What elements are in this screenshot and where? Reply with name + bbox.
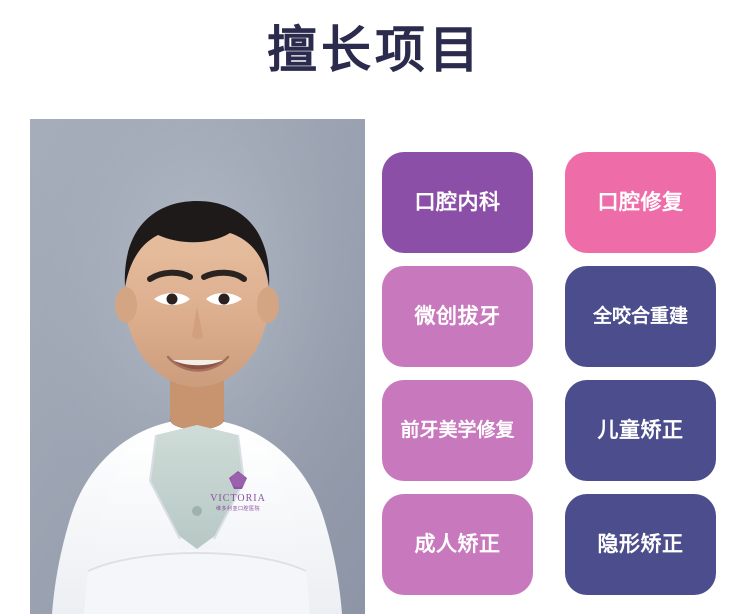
skill-button-7[interactable]: 隐形矫正 xyxy=(565,494,716,595)
page-root: 擅长项目 xyxy=(0,0,750,614)
skill-button-5[interactable]: 儿童矫正 xyxy=(565,380,716,481)
page-title: 擅长项目 xyxy=(267,25,483,75)
skills-grid: 口腔内科 口腔修复 微创拔牙 全咬合重建 前牙美学修复 儿童矫正 成人矫正 隐形… xyxy=(382,152,716,595)
skill-button-0[interactable]: 口腔内科 xyxy=(382,152,533,253)
skill-button-3[interactable]: 全咬合重建 xyxy=(565,266,716,367)
skill-label: 全咬合重建 xyxy=(593,307,688,326)
skill-label: 隐形矫正 xyxy=(598,534,684,555)
skill-label: 儿童矫正 xyxy=(598,420,684,441)
skill-label: 微创拔牙 xyxy=(415,306,501,327)
skill-button-4[interactable]: 前牙美学修复 xyxy=(382,380,533,481)
skill-label: 成人矫正 xyxy=(415,534,501,555)
skill-button-2[interactable]: 微创拔牙 xyxy=(382,266,533,367)
skill-label: 口腔内科 xyxy=(415,192,501,213)
skill-button-6[interactable]: 成人矫正 xyxy=(382,494,533,595)
skill-label: 口腔修复 xyxy=(598,192,684,213)
svg-text:VICTORIA: VICTORIA xyxy=(210,493,266,504)
skill-label: 前牙美学修复 xyxy=(400,421,514,440)
skill-button-1[interactable]: 口腔修复 xyxy=(565,152,716,253)
page-header: 擅长项目 xyxy=(0,0,750,100)
doctor-portrait-photo: VICTORIA 维多利亚口腔医院 xyxy=(30,119,365,614)
svg-text:维多利亚口腔医院: 维多利亚口腔医院 xyxy=(216,505,260,512)
